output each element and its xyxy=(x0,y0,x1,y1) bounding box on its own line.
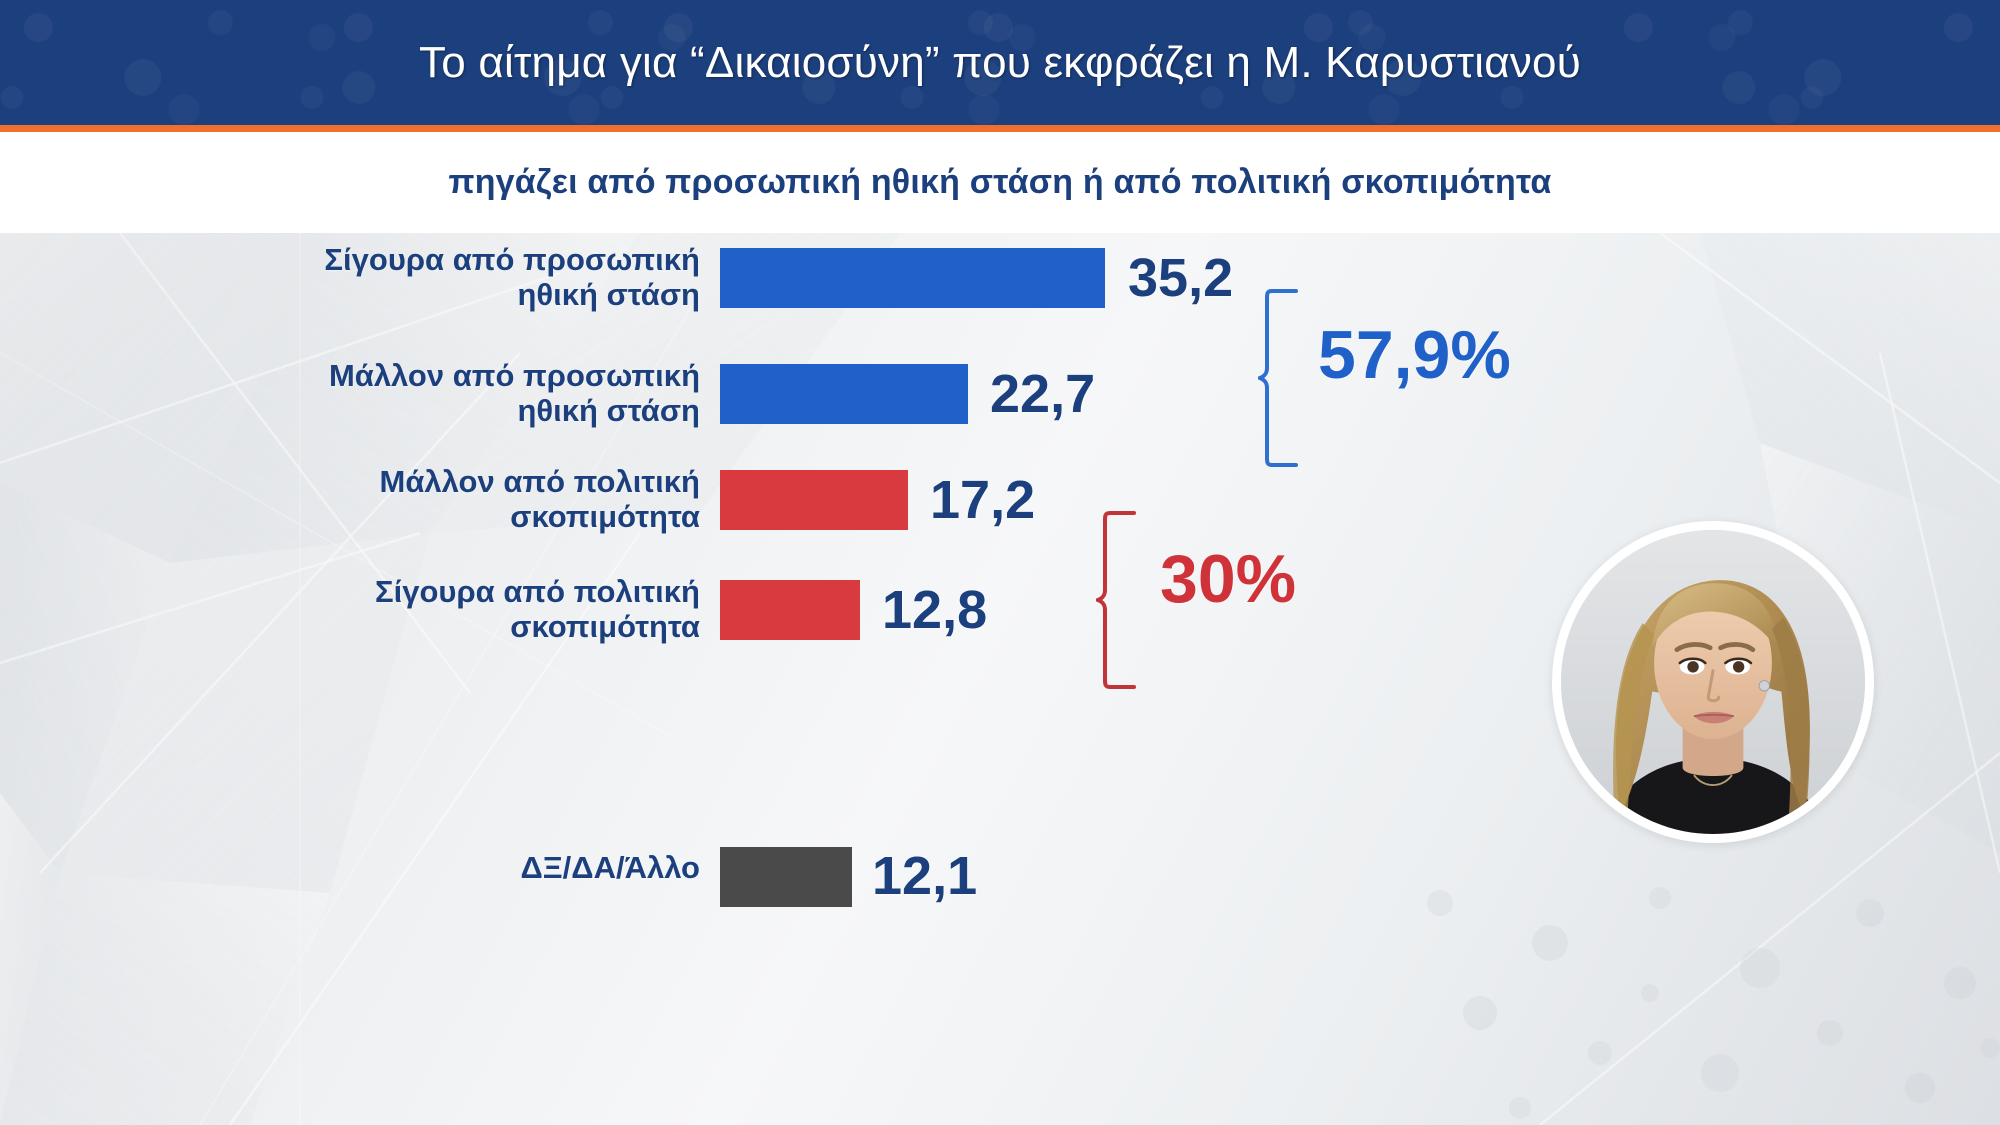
bar-label-line2: σκοπιμότητα xyxy=(140,610,700,645)
bar-label-line2: σκοπιμότητα xyxy=(140,500,700,535)
bar-value: 35,2 xyxy=(1128,251,1233,305)
portrait-illustration xyxy=(1561,530,1865,834)
bar-label: Σίγουρα από προσωπική ηθική στάση xyxy=(140,243,700,312)
bar-rect-4 xyxy=(720,580,860,640)
subtitle: πηγάζει από προσωπική ηθική στάση ή από … xyxy=(448,163,1551,202)
bar-label-line1: Σίγουρα από πολιτική xyxy=(140,575,700,610)
background-dot-decoration xyxy=(1400,873,2000,1125)
blue-group-bracket xyxy=(1258,288,1308,468)
header-accent-rule xyxy=(0,125,2000,132)
header-banner: Το αίτημα για “Δικαιοσύνη” που εκφράζει … xyxy=(0,0,2000,125)
bar-label-line1: Μάλλον από πολιτική xyxy=(140,465,700,500)
bar-rect-2 xyxy=(720,364,968,424)
bar-value: 12,8 xyxy=(882,583,987,637)
bar-label-line2: ηθική στάση xyxy=(140,394,700,429)
bar-value: 22,7 xyxy=(990,367,1095,421)
bar-label-line2: ηθική στάση xyxy=(140,278,700,313)
chart-canvas: Σίγουρα από προσωπική ηθική στάση 35,2 Μ… xyxy=(0,233,2000,1125)
subtitle-band: πηγάζει από προσωπική ηθική στάση ή από … xyxy=(0,132,2000,233)
bar-rect-5 xyxy=(720,847,852,907)
portrait-avatar xyxy=(1552,521,1874,843)
red-group-total: 30% xyxy=(1160,545,1296,613)
bar-label-line1: Μάλλον από προσωπική xyxy=(140,359,700,394)
bar-label: ΔΞ/ΔΑ/Άλλο xyxy=(140,851,700,886)
red-group-bracket xyxy=(1096,510,1146,690)
bar-rect-3 xyxy=(720,470,908,530)
bar-value: 17,2 xyxy=(930,473,1035,527)
bar-value: 12,1 xyxy=(872,849,977,903)
page-title: Το αίτημα για “Δικαιοσύνη” που εκφράζει … xyxy=(0,0,2000,125)
bar-label: Μάλλον από προσωπική ηθική στάση xyxy=(140,359,700,428)
bar-label: Σίγουρα από πολιτική σκοπιμότητα xyxy=(140,575,700,644)
bar-label: Μάλλον από πολιτική σκοπιμότητα xyxy=(140,465,700,534)
bar-rect-1 xyxy=(720,248,1105,308)
blue-group-total: 57,9% xyxy=(1318,321,1511,389)
bar-label-line1: ΔΞ/ΔΑ/Άλλο xyxy=(140,851,700,886)
bar-label-line1: Σίγουρα από προσωπική xyxy=(140,243,700,278)
